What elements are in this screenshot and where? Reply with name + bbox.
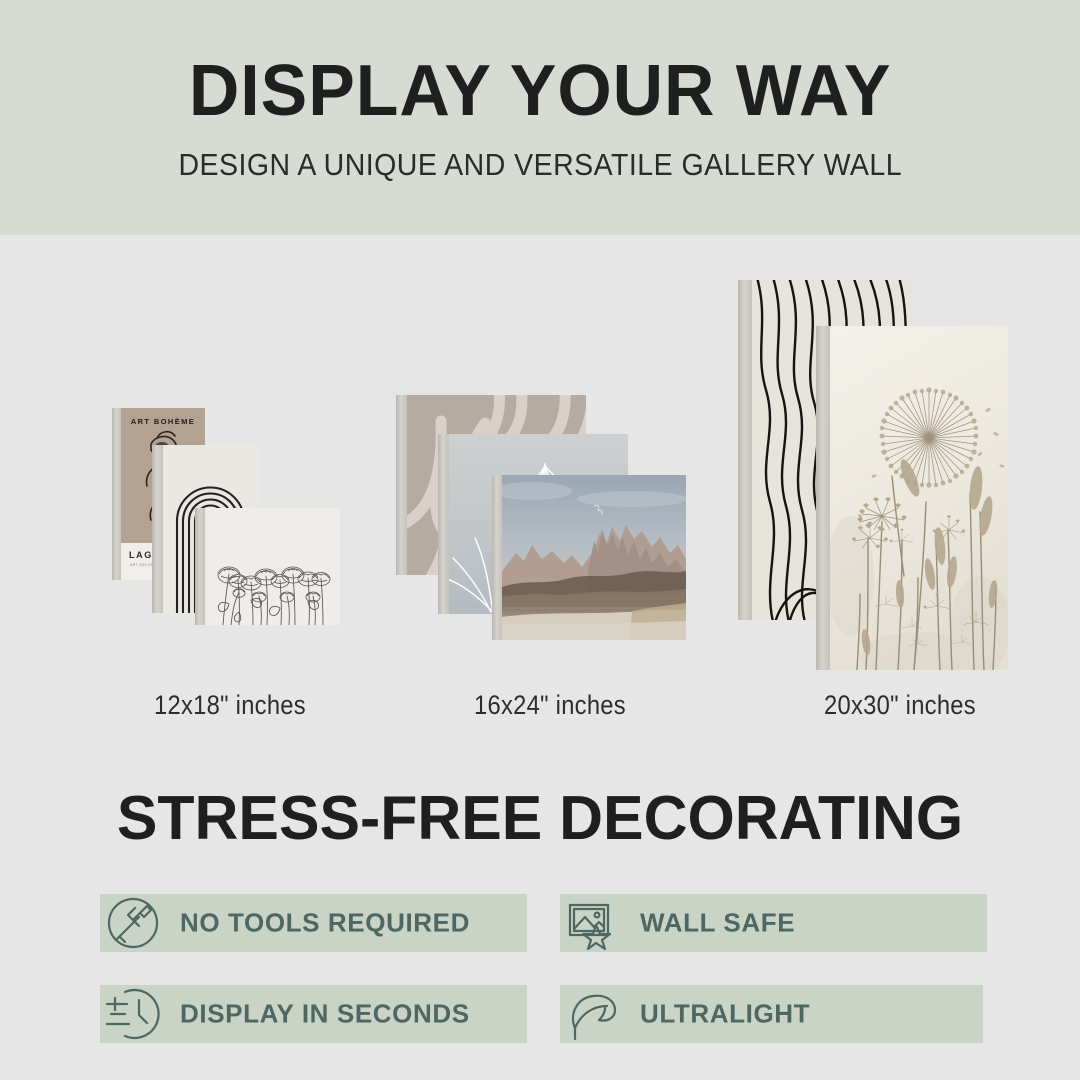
- canvas-sepia-dandelion-meadow[interactable]: [816, 326, 1008, 670]
- size-label-16x24: 16x24" inches: [400, 690, 699, 721]
- feature-label: WALL SAFE: [640, 908, 795, 939]
- canvas-group-12x18: ART BOHÈME LAGOM ART DECOR 2021: [100, 400, 340, 640]
- feature-label: NO TOOLS REQUIRED: [180, 908, 470, 939]
- feature-label: DISPLAY IN SECONDS: [180, 999, 470, 1030]
- page-title: DISPLAY YOUR WAY: [189, 55, 892, 127]
- no-tools-icon: [100, 890, 166, 956]
- canvas-group-16x24: [396, 395, 686, 655]
- feature-ultralight[interactable]: ULTRALIGHT: [560, 985, 983, 1043]
- promo-page: DISPLAY YOUR WAY DESIGN A UNIQUE AND VER…: [0, 0, 1080, 1080]
- size-label-12x18: 12x18" inches: [80, 690, 379, 721]
- canvas-edge: [738, 280, 752, 620]
- product-showcase: ART BOHÈME LAGOM ART DECOR 2021: [0, 235, 1080, 755]
- size-label-row: 12x18" inches 16x24" inches 20x30" inche…: [0, 690, 1080, 735]
- canvas-face: [205, 508, 340, 625]
- canvas-edge: [492, 475, 502, 640]
- canvas-edge: [816, 326, 830, 670]
- feature-wall-safe[interactable]: WALL SAFE: [560, 894, 987, 952]
- canvas-mountain-landscape-watercolor[interactable]: [492, 475, 686, 640]
- canvas-edge: [438, 434, 449, 614]
- feature-list: NO TOOLS REQUIRED WALL SAFE: [0, 880, 1080, 1060]
- size-label-20x30: 20x30" inches: [750, 690, 1049, 721]
- canvas-edge: [396, 395, 407, 575]
- feather-icon: [560, 981, 626, 1047]
- header-banner: DISPLAY YOUR WAY DESIGN A UNIQUE AND VER…: [0, 0, 1080, 235]
- page-subtitle: DESIGN A UNIQUE AND VERSATILE GALLERY WA…: [178, 149, 902, 180]
- feature-no-tools-required[interactable]: NO TOOLS REQUIRED: [100, 894, 527, 952]
- poster-title: ART BOHÈME: [121, 417, 205, 426]
- canvas-group-20x30: [738, 280, 1008, 670]
- canvas-face: [830, 326, 1008, 670]
- fast-clock-icon: [100, 981, 166, 1047]
- canvas-edge: [112, 408, 121, 580]
- canvas-edge: [195, 508, 205, 625]
- section-heading: STRESS-FREE DECORATING: [11, 785, 1069, 853]
- feature-display-in-seconds[interactable]: DISPLAY IN SECONDS: [100, 985, 527, 1043]
- canvas-botanical-poppies[interactable]: [195, 508, 340, 625]
- canvas-edge: [152, 445, 163, 613]
- wall-safe-icon: [560, 890, 626, 956]
- canvas-face: [502, 475, 686, 640]
- feature-label: ULTRALIGHT: [640, 999, 810, 1030]
